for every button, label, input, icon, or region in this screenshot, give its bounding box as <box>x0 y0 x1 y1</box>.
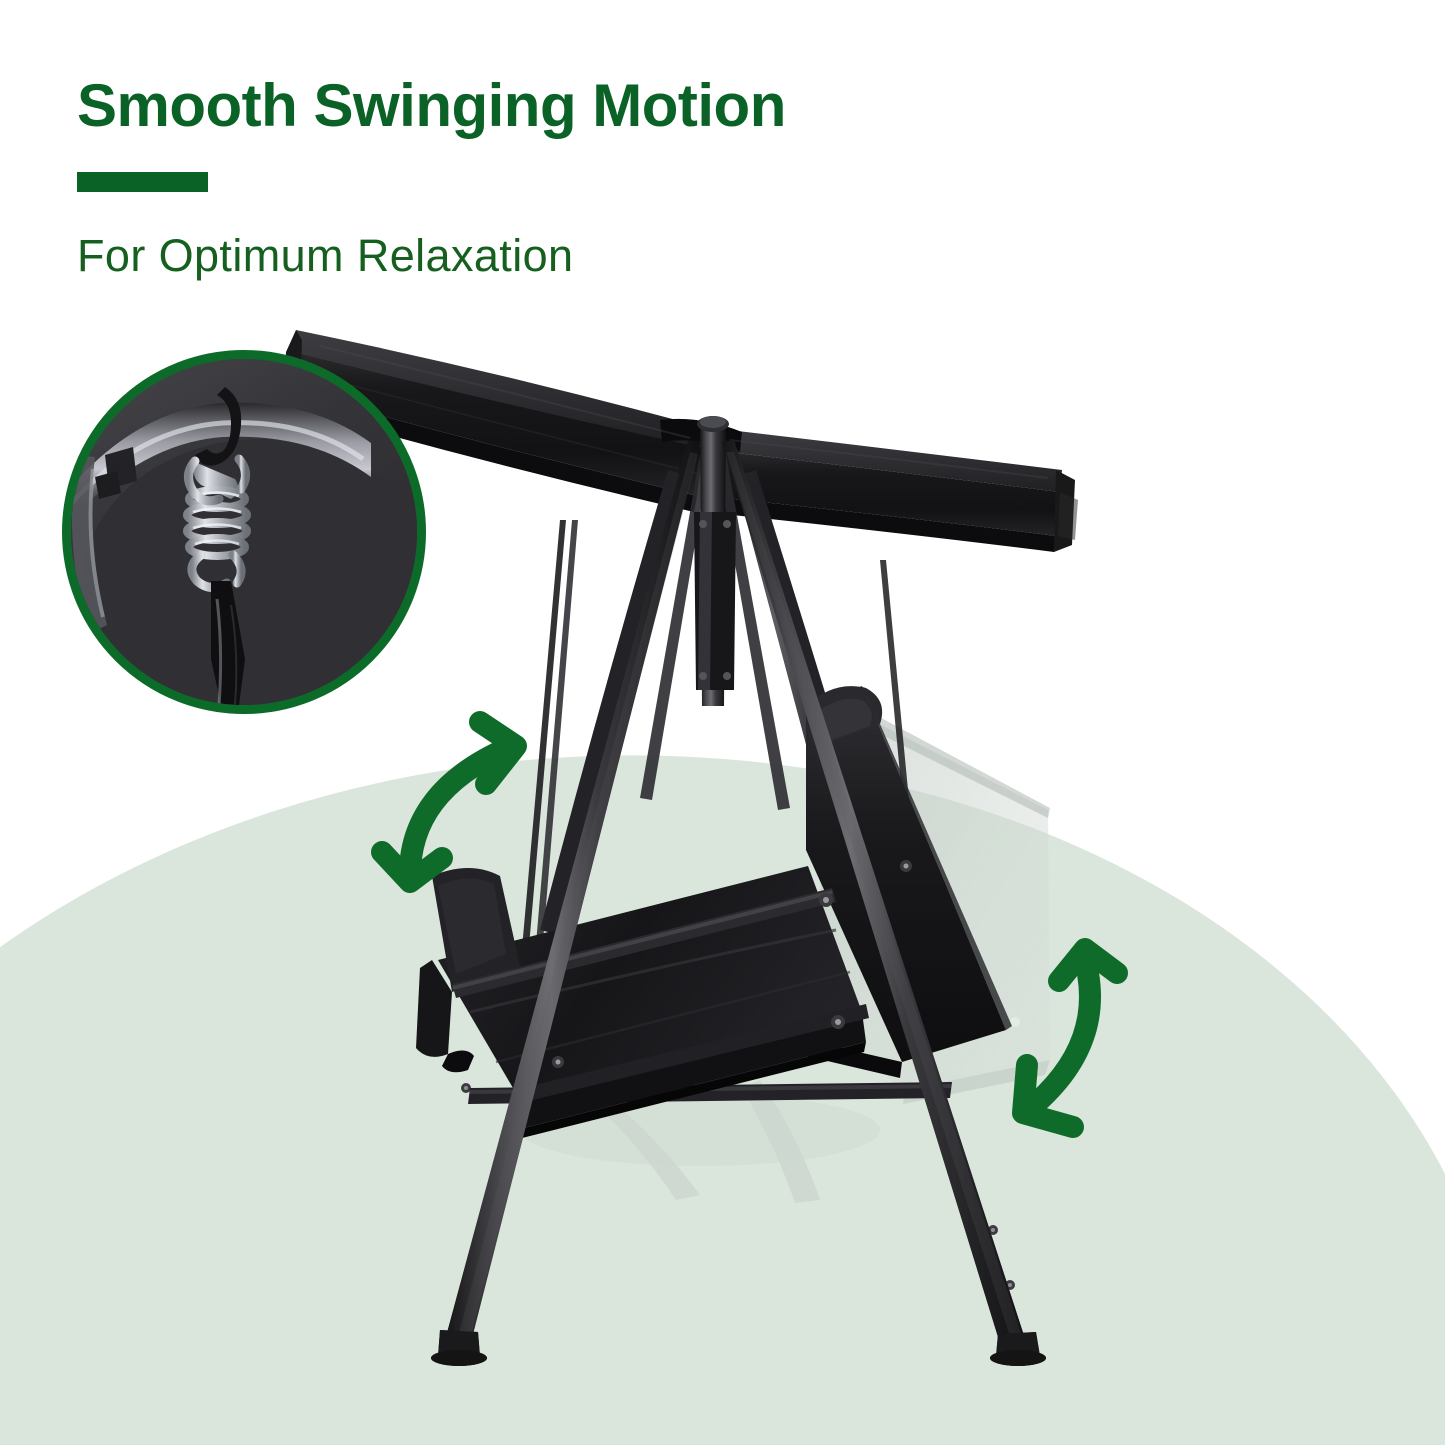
page-title: Smooth Swinging Motion <box>77 74 786 139</box>
page-subtitle: For Optimum Relaxation <box>77 230 573 282</box>
marketing-banner: Smooth Swinging Motion For Optimum Relax… <box>0 0 1445 1445</box>
swing-arrow-right <box>985 915 1175 1145</box>
accent-bar <box>77 172 208 192</box>
product-illustration <box>0 0 1445 1445</box>
spring-hook-closeup-callout <box>62 350 426 714</box>
swing-arrow-left <box>360 700 570 910</box>
foot-cap <box>431 1330 1046 1366</box>
